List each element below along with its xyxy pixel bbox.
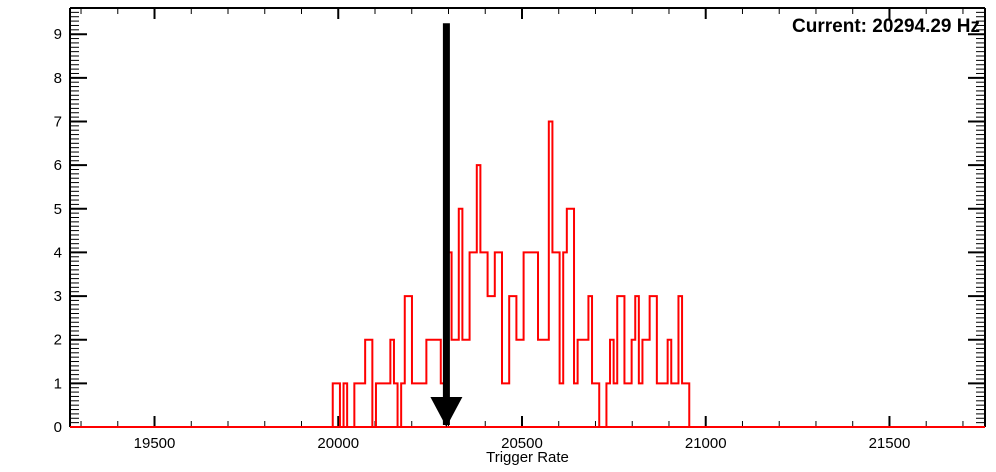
x-tick-label: 19500 [134, 435, 176, 452]
x-tick-label: 21000 [685, 435, 727, 452]
y-tick-label: 3 [54, 288, 62, 305]
y-tick-label: 0 [54, 419, 62, 436]
x-axis-label: Trigger Rate [486, 449, 569, 466]
y-tick-label: 7 [54, 113, 62, 130]
chart-root: 1950020000205002100021500 0123456789 Tri… [0, 0, 996, 472]
plot-background [0, 0, 996, 472]
y-tick-label: 4 [54, 244, 62, 261]
y-tick-label: 1 [54, 375, 62, 392]
y-tick-label: 8 [54, 70, 62, 87]
histogram-canvas: 1950020000205002100021500 0123456789 Tri… [0, 0, 996, 472]
y-tick-label: 2 [54, 332, 62, 349]
y-tick-label: 6 [54, 157, 62, 174]
x-tick-label: 20000 [317, 435, 359, 452]
y-tick-label: 9 [54, 26, 62, 43]
current-rate-title: Current: 20294.29 Hz [792, 16, 980, 38]
y-tick-label: 5 [54, 201, 62, 218]
x-tick-label: 21500 [869, 435, 911, 452]
